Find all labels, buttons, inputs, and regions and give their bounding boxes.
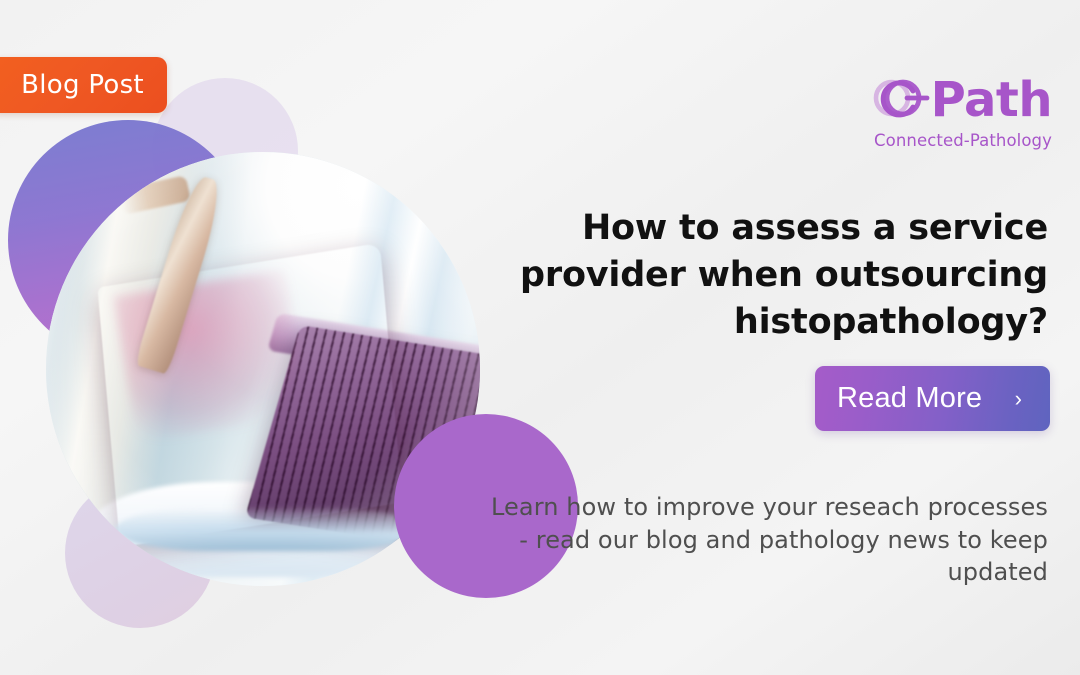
logo-row: Path [867, 72, 1052, 128]
chevron-right-icon: › [1015, 388, 1022, 410]
blog-post-badge: Blog Post [0, 57, 167, 113]
blog-post-promo-banner: Blog Post Path Connected-Pathology How t… [0, 0, 1080, 675]
epath-wordmark: Path [931, 76, 1052, 124]
read-more-button-label: Read More [837, 384, 982, 413]
read-more-button[interactable]: Read More › [815, 366, 1050, 431]
page-title: How to assess a service provider when ou… [448, 205, 1048, 346]
epath-circles-logo-icon [867, 73, 933, 127]
epath-tagline: Connected-Pathology [867, 131, 1052, 150]
promo-subtext: Learn how to improve your reseach proces… [488, 491, 1048, 589]
epath-logo[interactable]: Path Connected-Pathology [867, 72, 1052, 150]
blog-post-badge-label: Blog Post [21, 72, 144, 98]
